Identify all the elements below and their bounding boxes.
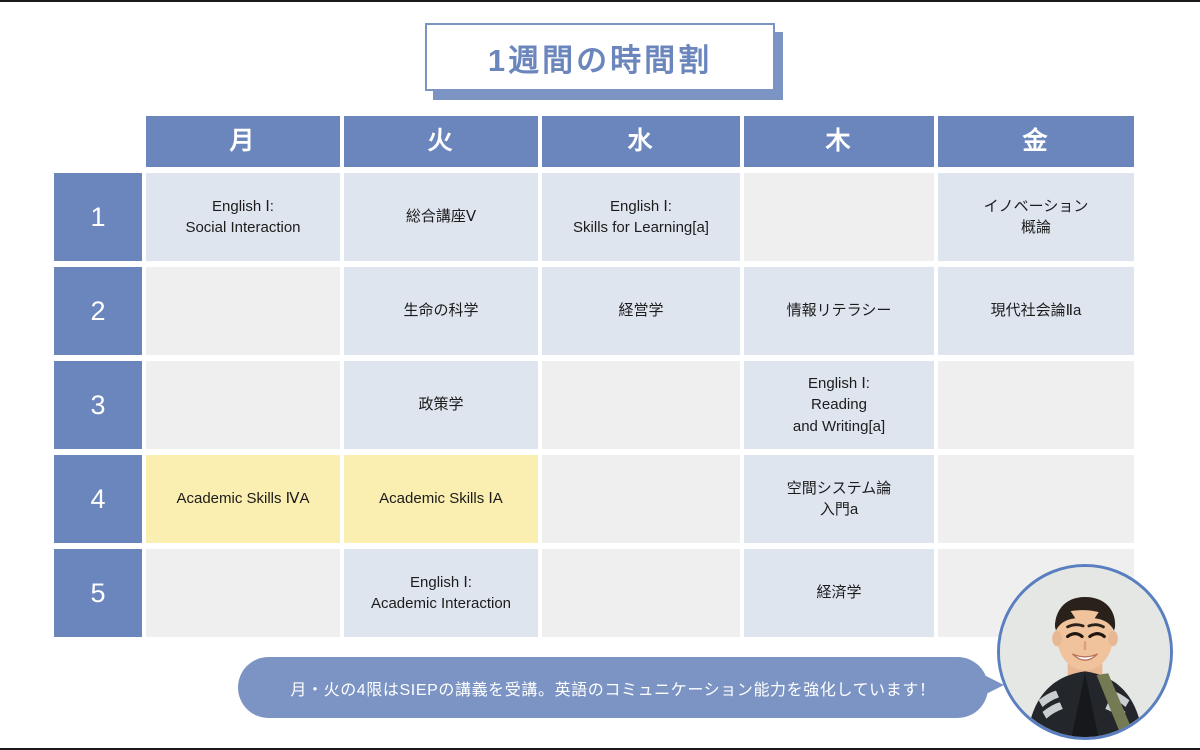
- course-line: 概論: [984, 217, 1089, 238]
- timetable-cell-text: 空間システム論入門a: [787, 478, 892, 521]
- timetable-cell-text: 情報リテラシー: [787, 300, 892, 321]
- timetable-cell[interactable]: English Ⅰ:Skills for Learning[a]: [542, 173, 740, 261]
- course-line: Skills for Learning[a]: [573, 217, 709, 238]
- course-line: 経済学: [816, 582, 861, 603]
- day-header: 金: [938, 116, 1134, 167]
- grid-corner-spacer: [54, 116, 142, 167]
- course-line: Academic Skills ⅣA: [176, 488, 309, 509]
- title-box: 1週間の時間割: [425, 23, 775, 91]
- portrait-illustration: [1000, 567, 1170, 737]
- day-header: 木: [744, 116, 934, 167]
- timetable-cell-empty[interactable]: [938, 455, 1134, 543]
- timetable-cell-empty[interactable]: [744, 173, 934, 261]
- course-line: イノベーション: [984, 196, 1089, 217]
- timetable-cell-text: 政策学: [418, 394, 463, 415]
- course-line: Reading: [793, 394, 885, 415]
- page-title: 1週間の時間割: [425, 23, 775, 93]
- timetable-cell[interactable]: 生命の科学: [344, 267, 538, 355]
- timetable-grid: 月火水木金1English Ⅰ:Social Interaction総合講座ⅤE…: [54, 116, 1144, 637]
- timetable-page: 1週間の時間割 月火水木金1English Ⅰ:Social Interacti…: [0, 2, 1200, 748]
- timetable-cell-text: Academic Skills ⅠA: [379, 488, 503, 509]
- student-portrait: [997, 564, 1173, 740]
- page-title-text: 1週間の時間割: [488, 35, 712, 80]
- period-header: 1: [54, 173, 142, 261]
- course-line: 入門a: [787, 499, 892, 520]
- day-header: 月: [146, 116, 340, 167]
- course-line: English Ⅰ:: [371, 572, 511, 593]
- day-header: 火: [344, 116, 538, 167]
- course-line: 情報リテラシー: [787, 300, 892, 321]
- timetable-cell-text: 経営学: [618, 300, 663, 321]
- timetable-cell-text: イノベーション概論: [984, 196, 1089, 239]
- course-line: 空間システム論: [787, 478, 892, 499]
- timetable-cell-text: 総合講座Ⅴ: [406, 206, 476, 227]
- timetable-cell-empty[interactable]: [146, 549, 340, 637]
- course-line: 経営学: [618, 300, 663, 321]
- course-line: 政策学: [418, 394, 463, 415]
- period-header: 3: [54, 361, 142, 449]
- timetable-cell-text: English Ⅰ:Skills for Learning[a]: [573, 196, 709, 239]
- course-line: and Writing[a]: [793, 416, 885, 437]
- comment-bubble-text: 月・火の4限はSIEPの講義を受講。英語のコミュニケーション能力を強化しています…: [290, 676, 935, 700]
- period-header: 2: [54, 267, 142, 355]
- course-line: Social Interaction: [185, 217, 300, 238]
- course-line: 総合講座Ⅴ: [406, 206, 476, 227]
- day-header: 水: [542, 116, 740, 167]
- timetable-cell[interactable]: 経営学: [542, 267, 740, 355]
- timetable-cell-text: English Ⅰ:Readingand Writing[a]: [793, 373, 885, 437]
- timetable-cell[interactable]: Academic Skills ⅠA: [344, 455, 538, 543]
- course-line: English Ⅰ:: [185, 196, 300, 217]
- timetable-cell[interactable]: English Ⅰ:Academic Interaction: [344, 549, 538, 637]
- course-line: English Ⅰ:: [573, 196, 709, 217]
- course-line: 生命の科学: [403, 300, 478, 321]
- timetable-cell[interactable]: English Ⅰ:Social Interaction: [146, 173, 340, 261]
- course-line: English Ⅰ:: [793, 373, 885, 394]
- timetable-cell-text: Academic Skills ⅣA: [176, 488, 309, 509]
- timetable-cell-text: 現代社会論Ⅱa: [991, 300, 1082, 321]
- timetable-cell[interactable]: 総合講座Ⅴ: [344, 173, 538, 261]
- timetable-cell-empty[interactable]: [542, 455, 740, 543]
- timetable-cell[interactable]: 情報リテラシー: [744, 267, 934, 355]
- timetable-cell[interactable]: 政策学: [344, 361, 538, 449]
- timetable-cell-empty[interactable]: [146, 267, 340, 355]
- timetable-cell-empty[interactable]: [146, 361, 340, 449]
- timetable-cell[interactable]: 経済学: [744, 549, 934, 637]
- course-line: 現代社会論Ⅱa: [991, 300, 1082, 321]
- timetable-cell-text: English Ⅰ:Academic Interaction: [371, 572, 511, 615]
- timetable-cell[interactable]: Academic Skills ⅣA: [146, 455, 340, 543]
- timetable-cell-text: 経済学: [816, 582, 861, 603]
- timetable-cell[interactable]: English Ⅰ:Readingand Writing[a]: [744, 361, 934, 449]
- period-header: 4: [54, 455, 142, 543]
- period-header: 5: [54, 549, 142, 637]
- timetable-cell-empty[interactable]: [938, 361, 1134, 449]
- timetable-cell-empty[interactable]: [542, 361, 740, 449]
- comment-bubble: 月・火の4限はSIEPの講義を受講。英語のコミュニケーション能力を強化しています…: [238, 657, 988, 718]
- timetable-cell[interactable]: イノベーション概論: [938, 173, 1134, 261]
- course-line: Academic Skills ⅠA: [379, 488, 503, 509]
- timetable-cell-empty[interactable]: [542, 549, 740, 637]
- timetable-cell-text: 生命の科学: [403, 300, 478, 321]
- course-line: Academic Interaction: [371, 593, 511, 614]
- timetable-cell[interactable]: 現代社会論Ⅱa: [938, 267, 1134, 355]
- timetable-cell-text: English Ⅰ:Social Interaction: [185, 196, 300, 239]
- timetable-cell[interactable]: 空間システム論入門a: [744, 455, 934, 543]
